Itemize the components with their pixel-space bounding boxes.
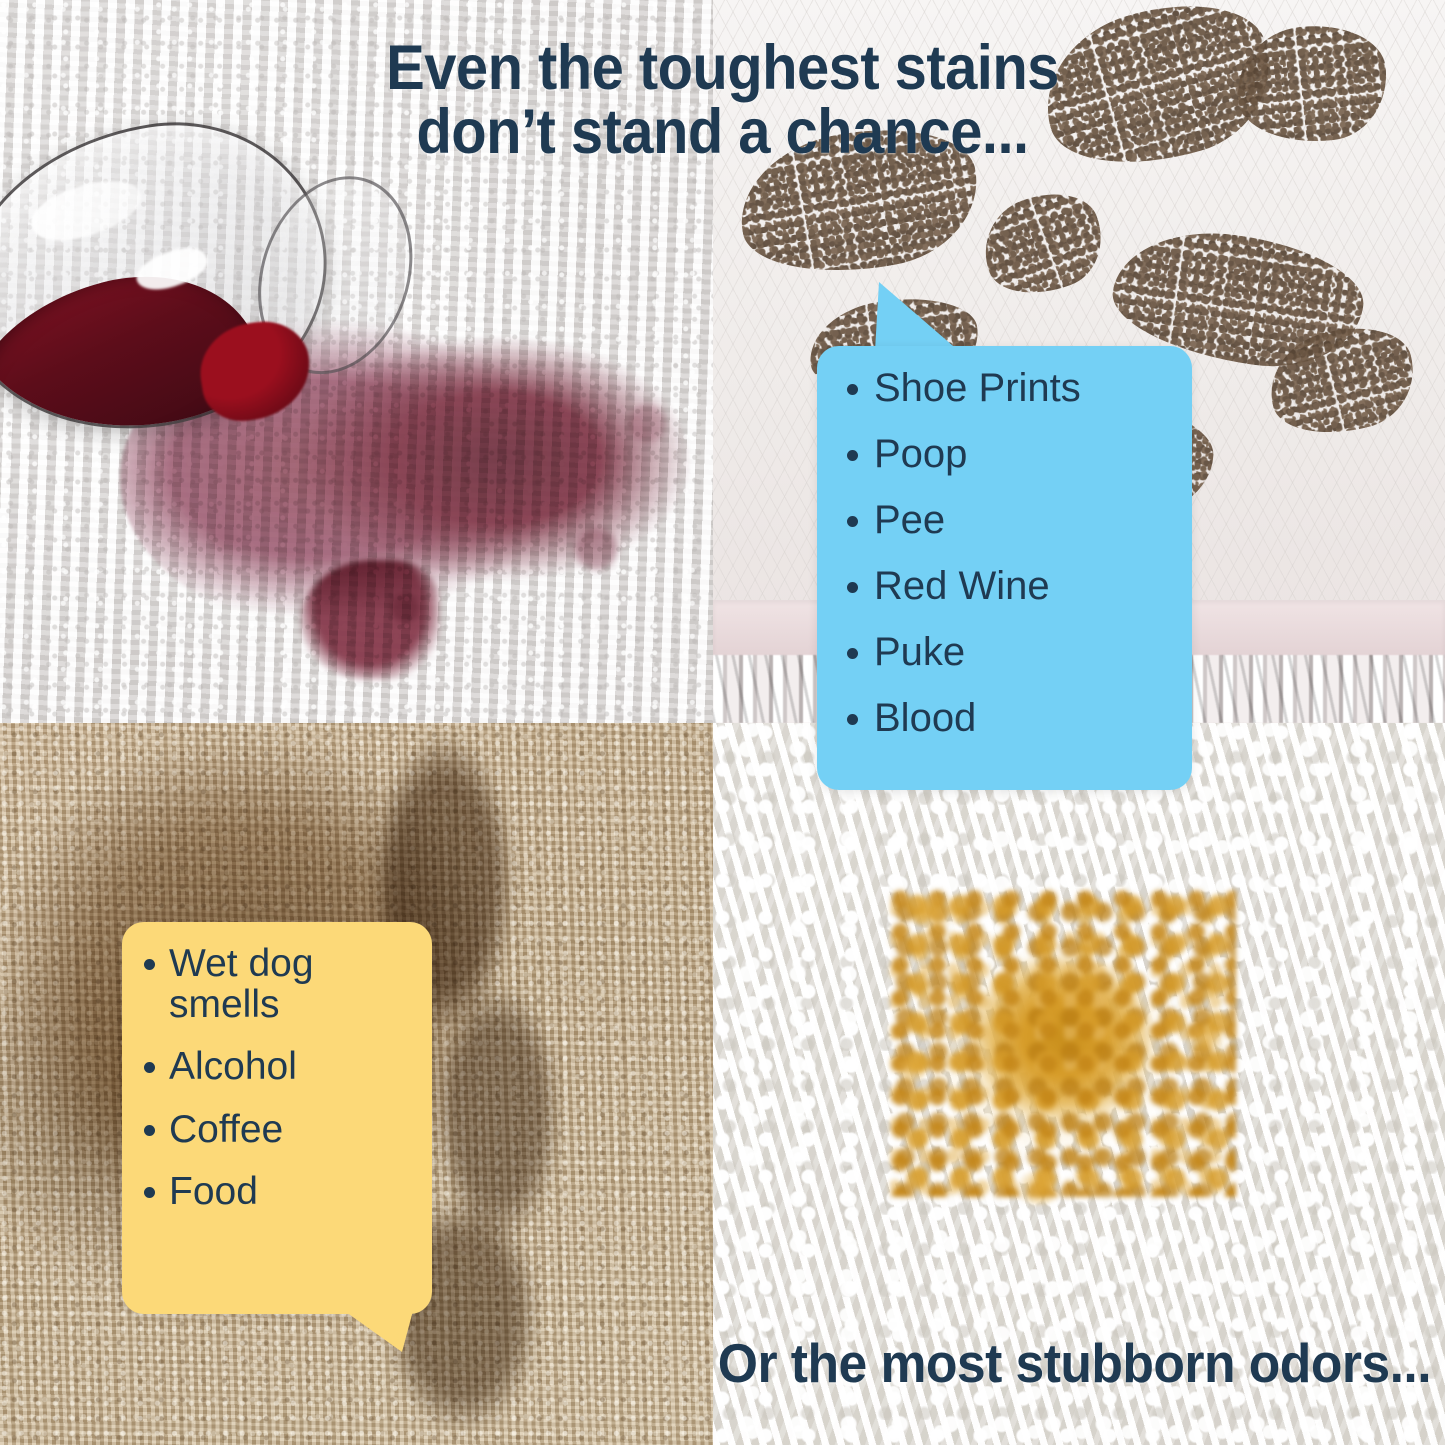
odors-bubble-body: Wet dog smells Alcohol Coffee Food xyxy=(122,922,432,1314)
list-item: Red Wine xyxy=(847,566,1178,606)
bullet-dot-icon xyxy=(847,384,858,395)
stains-callout-bubble: Shoe Prints Poop Pee Red Wine Puke xyxy=(817,282,1192,790)
list-item: Pee xyxy=(847,500,1178,540)
bullet-dot-icon xyxy=(847,516,858,527)
bullet-dot-icon xyxy=(847,714,858,725)
bullet-dot-icon xyxy=(144,1187,155,1198)
bullet-dot-icon xyxy=(847,450,858,461)
odor-label: Alcohol xyxy=(169,1047,297,1088)
stains-list: Shoe Prints Poop Pee Red Wine Puke xyxy=(847,368,1178,764)
headline-top: Even the toughest stains don’t stand a c… xyxy=(58,36,1387,165)
stains-bubble-body: Shoe Prints Poop Pee Red Wine Puke xyxy=(817,346,1192,790)
vomit-fleck-1 xyxy=(909,893,957,931)
vomit-fleck-3 xyxy=(1013,1171,1065,1205)
stain-label: Red Wine xyxy=(874,566,1050,606)
stain-label: Pee xyxy=(874,500,945,540)
list-item: Puke xyxy=(847,632,1178,672)
odors-list: Wet dog smells Alcohol Coffee Food xyxy=(144,944,420,1235)
list-item: Shoe Prints xyxy=(847,368,1178,408)
red-wine-splatter xyxy=(300,560,440,680)
odor-label: Coffee xyxy=(169,1110,283,1151)
odor-label: Food xyxy=(169,1172,258,1213)
vomit-fleck-2 xyxy=(1183,1023,1227,1059)
list-item: Food xyxy=(144,1172,420,1213)
bullet-dot-icon xyxy=(144,959,155,970)
infographic-canvas: Even the toughest stains don’t stand a c… xyxy=(0,0,1445,1445)
list-item: Alcohol xyxy=(144,1047,420,1088)
list-item: Coffee xyxy=(144,1110,420,1151)
bullet-dot-icon xyxy=(144,1062,155,1073)
bullet-dot-icon xyxy=(144,1125,155,1136)
glass-highlight-upper xyxy=(25,167,148,254)
bullet-dot-icon xyxy=(847,582,858,593)
list-item: Wet dog smells xyxy=(144,944,420,1025)
stain-label: Shoe Prints xyxy=(874,368,1081,408)
vomit-fleck-4 xyxy=(893,1053,931,1083)
list-item: Blood xyxy=(847,698,1178,738)
vomit-stain xyxy=(928,923,1198,1163)
stain-label: Poop xyxy=(874,434,967,474)
bullet-dot-icon xyxy=(847,648,858,659)
odors-callout-bubble: Wet dog smells Alcohol Coffee Food xyxy=(122,922,442,1352)
list-item: Poop xyxy=(847,434,1178,474)
odor-label: Wet dog smells xyxy=(169,944,420,1025)
stain-label: Puke xyxy=(874,632,965,672)
stain-label: Blood xyxy=(874,698,976,738)
bubble-tail-yellow xyxy=(318,1292,418,1352)
